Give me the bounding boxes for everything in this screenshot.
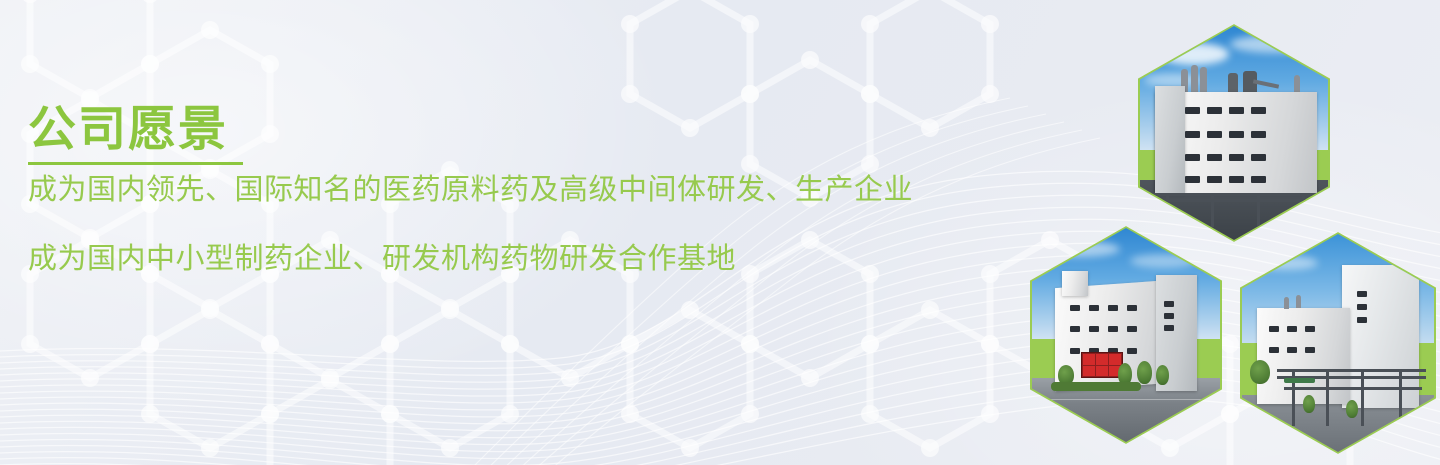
building-side-wing [1155, 86, 1185, 193]
pipe-rack-leg [1257, 193, 1260, 227]
vision-statement-line-2: 成为国内中小型制药企业、研发机构药物研发合作基地 [28, 238, 1058, 282]
window [1164, 313, 1174, 319]
window [1251, 154, 1266, 161]
window [1108, 305, 1118, 311]
pipe-rack-leg [1361, 369, 1364, 426]
window-row [1070, 305, 1137, 311]
hexagon-image-top [1140, 26, 1328, 240]
window [1185, 176, 1200, 183]
tree [1346, 400, 1358, 418]
window [1357, 317, 1367, 323]
window [1089, 305, 1099, 311]
tree [1156, 365, 1169, 385]
window-row [1269, 326, 1315, 332]
window [1207, 107, 1222, 114]
window [1357, 304, 1367, 310]
window [1251, 176, 1266, 183]
window [1269, 326, 1279, 332]
window [1229, 107, 1244, 114]
signboard [1284, 378, 1315, 383]
window-row [1185, 176, 1266, 183]
vision-banner: 公司愿景 成为国内领先、国际知名的医药原料药及高级中间体研发、生产企业 成为国内… [0, 0, 1440, 465]
window-row [1185, 107, 1266, 114]
tower-window-row [1164, 301, 1174, 331]
window [1089, 326, 1099, 332]
photo-factory-with-led-sign [1032, 228, 1220, 442]
pipe-rack [1144, 193, 1324, 202]
window [1305, 347, 1315, 353]
pavement-line [1043, 399, 1208, 400]
hexagon-image-bottom-right [1242, 234, 1434, 452]
rooftop-stack [1296, 295, 1301, 308]
photo-production-building [1140, 26, 1328, 240]
building-penthouse [1062, 271, 1088, 297]
window [1185, 107, 1200, 114]
page-title: 公司愿景 [28, 104, 1058, 156]
window [1305, 326, 1315, 332]
hedge [1051, 382, 1141, 391]
window [1207, 154, 1222, 161]
window [1287, 326, 1297, 332]
window-row [1185, 131, 1266, 138]
window [1251, 107, 1266, 114]
window [1070, 305, 1080, 311]
hexagon-image-bottom-left [1032, 228, 1220, 442]
window [1070, 326, 1080, 332]
led-cell [1083, 366, 1095, 377]
window-row [1070, 326, 1137, 332]
window [1127, 326, 1137, 332]
window [1127, 305, 1137, 311]
window-row [1185, 154, 1266, 161]
window [1229, 176, 1244, 183]
pipe-rack-leg [1211, 193, 1214, 227]
window [1229, 154, 1244, 161]
pipe-rack-leg [1166, 193, 1169, 227]
vision-text-block: 公司愿景 成为国内领先、国际知名的医药原料药及高级中间体研发、生产企业 成为国内… [28, 104, 1058, 282]
window [1287, 347, 1297, 353]
window [1108, 326, 1118, 332]
window [1185, 154, 1200, 161]
tree [1137, 361, 1152, 384]
hexagon-photo-bottom-right[interactable] [1240, 232, 1436, 454]
red-led-sign [1081, 352, 1123, 378]
photo-plant-with-pipe-racks [1242, 234, 1434, 452]
rooftop-stack [1284, 297, 1289, 309]
window [1164, 301, 1174, 307]
window [1070, 348, 1080, 354]
rooftop-stack [1191, 65, 1198, 93]
window [1357, 291, 1367, 297]
window [1207, 176, 1222, 183]
window [1207, 131, 1222, 138]
hexagon-photo-bottom-left[interactable] [1030, 226, 1222, 444]
window [1127, 348, 1137, 354]
window [1185, 131, 1200, 138]
hexagon-photo-top[interactable] [1138, 24, 1330, 242]
led-cell [1096, 366, 1108, 377]
rooftop-stack [1200, 67, 1207, 94]
window [1251, 131, 1266, 138]
led-cell [1083, 354, 1095, 365]
tree [1250, 360, 1270, 384]
title-underline-rule [28, 162, 243, 165]
pipe-rack-leg [1326, 369, 1329, 426]
window [1164, 325, 1174, 331]
window [1269, 347, 1279, 353]
window [1229, 131, 1244, 138]
hexagon-photo-cluster [1000, 0, 1440, 465]
led-cell [1109, 354, 1121, 365]
vision-statement-line-1: 成为国内领先、国际知名的医药原料药及高级中间体研发、生产企业 [28, 169, 1058, 213]
cloud [1230, 35, 1320, 53]
window-row [1269, 347, 1315, 353]
pipe-rack-leg [1302, 193, 1305, 227]
led-cell [1096, 354, 1108, 365]
tower-window-row [1357, 291, 1367, 323]
